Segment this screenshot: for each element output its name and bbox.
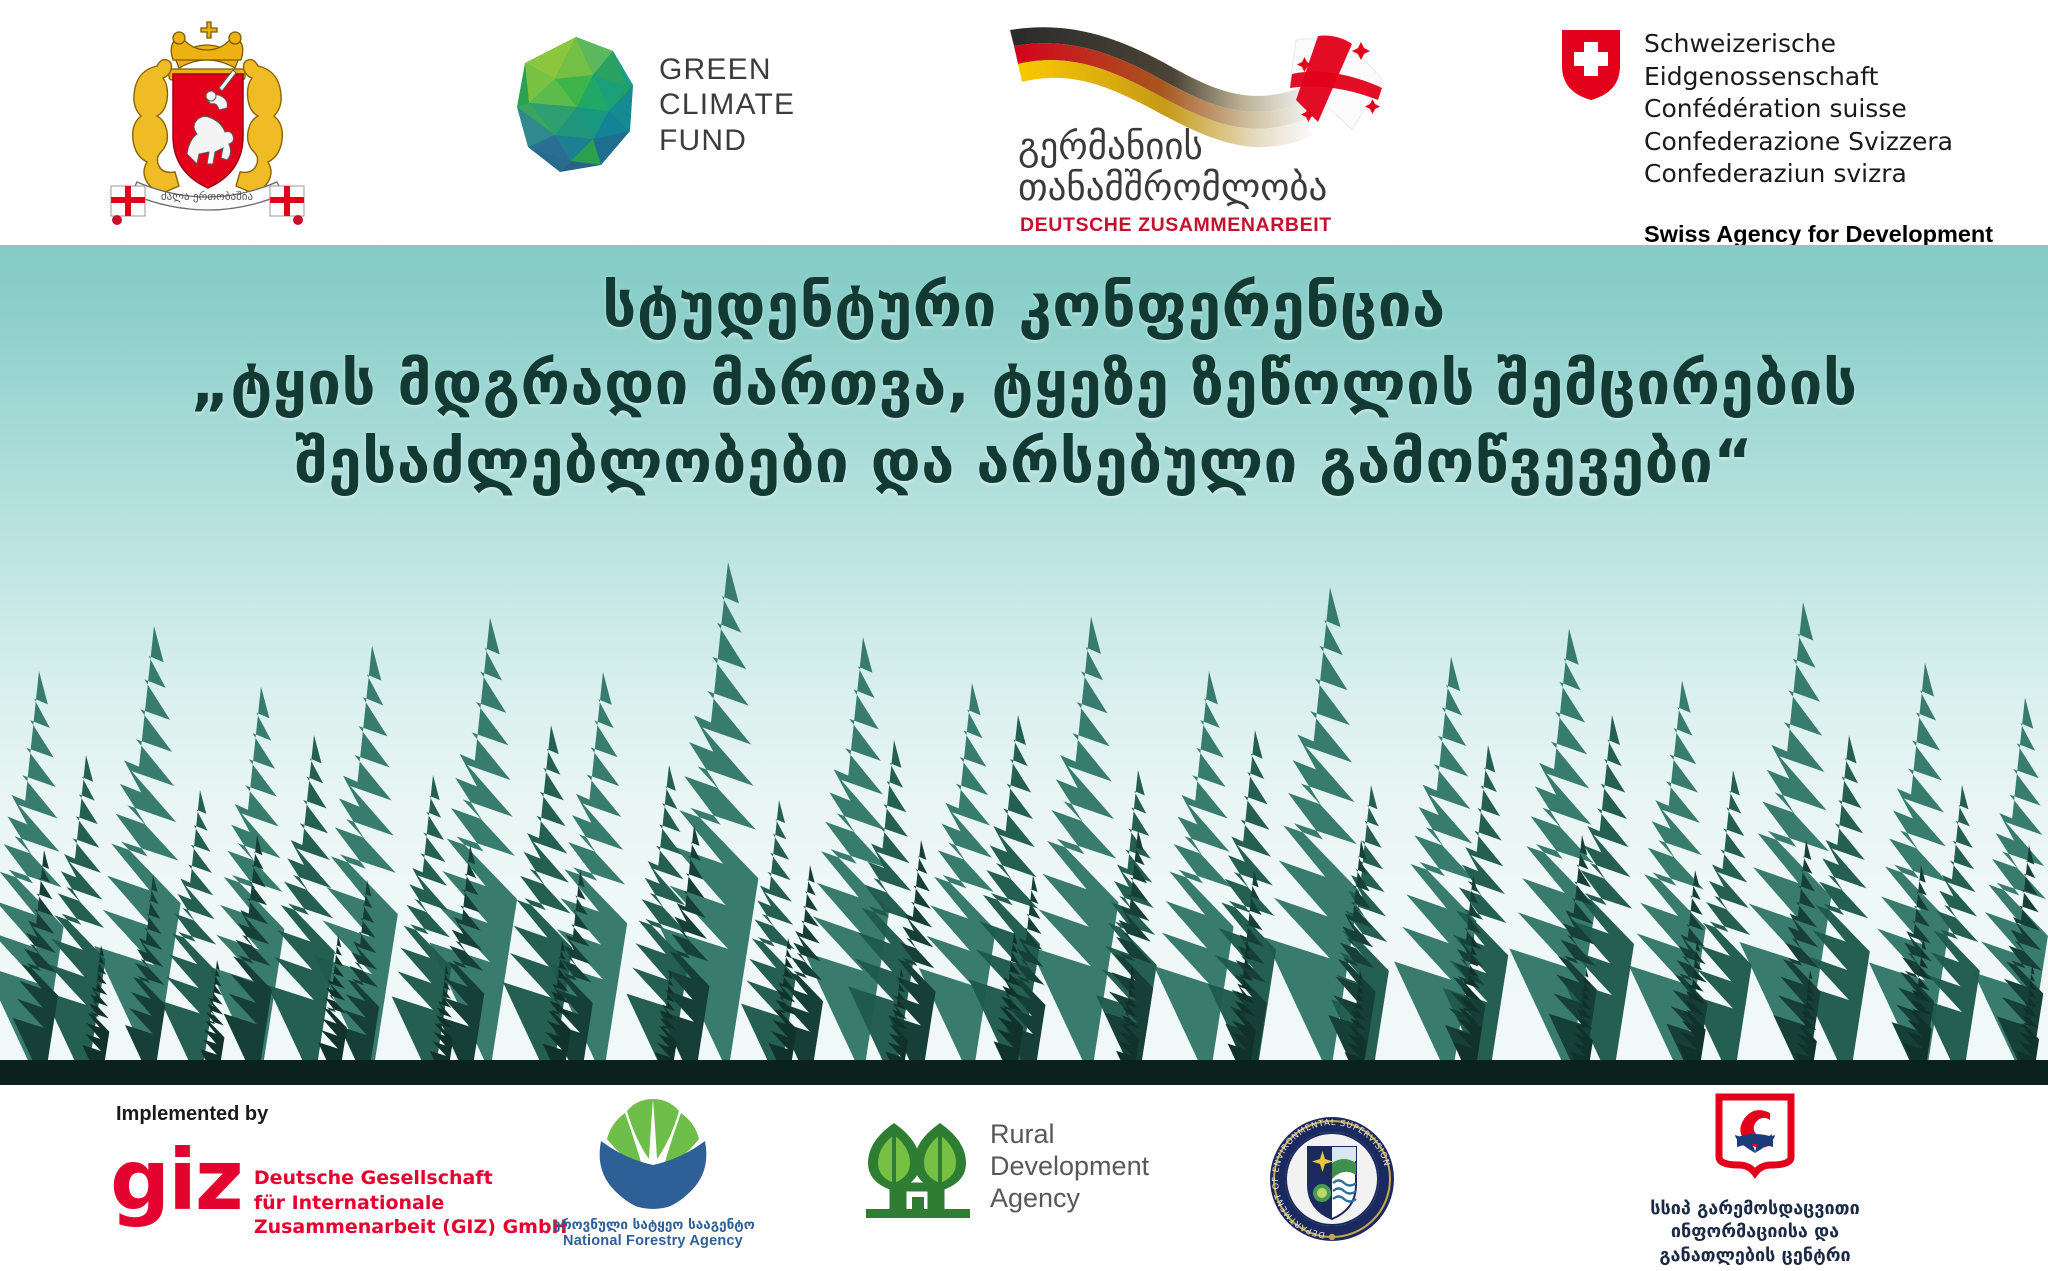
conference-banner: ძალა ერთობაშია xyxy=(0,0,2048,1271)
coat-of-arms-of-georgia-icon: ძალა ერთობაშია xyxy=(95,14,320,234)
gcf-line-2: CLIMATE xyxy=(659,87,795,122)
giz-line-3: Zusammenarbeit (GIZ) GmbH xyxy=(254,1215,568,1240)
giz-line-1: Deutsche Gesellschaft xyxy=(254,1166,568,1191)
swiss-name-it: Confederazione Svizzera xyxy=(1644,126,2048,159)
gcf-globe-icon xyxy=(515,35,637,175)
german-cooperation-logo: გერმანიის თანამშრომლობა DEUTSCHE ZUSAMME… xyxy=(1000,18,1420,233)
german-cooperation-geo-line-2: თანამშრომლობა xyxy=(1018,167,1327,208)
german-cooperation-geo-line-1: გერმანიის xyxy=(1018,126,1327,167)
swiss-name-de: Schweizerische Eidgenossenschaft xyxy=(1644,28,2048,93)
giz-line-2: für Internationale xyxy=(254,1191,568,1216)
swiss-name-fr: Confédération suisse xyxy=(1644,93,2048,126)
coat-of-arms-motto: ძალა ერთობაშია xyxy=(161,190,254,203)
top-logo-strip: ძალა ერთობაშია xyxy=(0,0,2048,245)
environmental-info-education-centre-logo: სსიპ გარემოსდაცვითი ინფორმაციისა და განა… xyxy=(1625,1093,1885,1267)
rda-trees-house-icon xyxy=(862,1113,974,1221)
title-line-1: სტუდენტური კონფერენცია xyxy=(0,267,2048,345)
national-forestry-agency-logo: ეროვნული სატყეო სააგენტო National Forest… xyxy=(553,1095,753,1249)
gcf-wordmark: GREEN CLIMATE FUND xyxy=(659,52,795,158)
eiec-name: სსიპ გარემოსდაცვითი ინფორმაციისა და განა… xyxy=(1625,1197,1885,1267)
giz-wordmark: giz xyxy=(110,1148,242,1214)
deutsche-zusammenarbeit-subtitle: DEUTSCHE ZUSAMMENARBEIT xyxy=(1020,214,1332,237)
rda-line-2: Development xyxy=(990,1151,1149,1183)
implemented-by-label: Implemented by xyxy=(116,1103,268,1126)
green-climate-fund-logo: GREEN CLIMATE FUND xyxy=(515,35,795,175)
swiss-name-rm: Confederaziun svizra xyxy=(1644,158,2048,191)
bottom-logo-strip: Implemented by giz Deutsche Gesellschaft… xyxy=(0,1085,2048,1271)
german-cooperation-georgian-text: გერმანიის თანამშრომლობა xyxy=(1018,126,1327,209)
forest-silhouette-illustration xyxy=(0,520,2048,1085)
nfa-english-name: National Forestry Agency xyxy=(553,1233,753,1249)
giz-full-name: Deutsche Gesellschaft für Internationale… xyxy=(254,1166,568,1240)
rda-line-1: Rural xyxy=(990,1119,1149,1151)
rural-development-agency-logo: Rural Development Agency xyxy=(862,1113,1149,1221)
nfa-georgian-name: ეროვნული სატყეო სააგენტო xyxy=(553,1217,753,1233)
eiec-line-3: განათლების ცენტრი xyxy=(1625,1244,1885,1267)
title-line-3: შესაძლებლობები და არსებული გამოწვევები“ xyxy=(0,423,2048,501)
swiss-confederation-logo: Schweizerische Eidgenossenschaft Confédé… xyxy=(1560,28,2048,279)
eiec-shield-book-icon xyxy=(1713,1093,1797,1189)
gcf-line-1: GREEN xyxy=(659,52,795,87)
rda-line-3: Agency xyxy=(990,1183,1149,1215)
giz-logo: giz Deutsche Gesellschaft für Internatio… xyxy=(110,1148,567,1240)
eiec-line-2: ინფორმაციისა და xyxy=(1625,1220,1885,1243)
department-environmental-supervision-emblem-icon: DEPARTMENT OF ENVIRONMENTAL SUPERVISION xyxy=(1268,1115,1396,1243)
nfa-tree-circle-icon xyxy=(593,1095,713,1213)
swiss-cross-shield-icon xyxy=(1560,28,1622,102)
rda-wordmark: Rural Development Agency xyxy=(990,1119,1149,1215)
hero-section: სტუდენტური კონფერენცია „ტყის მდგრადი მარ… xyxy=(0,245,2048,1085)
eiec-line-1: სსიპ გარემოსდაცვითი xyxy=(1625,1197,1885,1220)
page-title: სტუდენტური კონფერენცია „ტყის მდგრადი მარ… xyxy=(0,267,2048,501)
swiss-confederation-names: Schweizerische Eidgenossenschaft Confédé… xyxy=(1644,28,2048,191)
gcf-line-3: FUND xyxy=(659,123,795,158)
title-line-2: „ტყის მდგრადი მართვა, ტყეზე ზეწოლის შემც… xyxy=(0,345,2048,423)
